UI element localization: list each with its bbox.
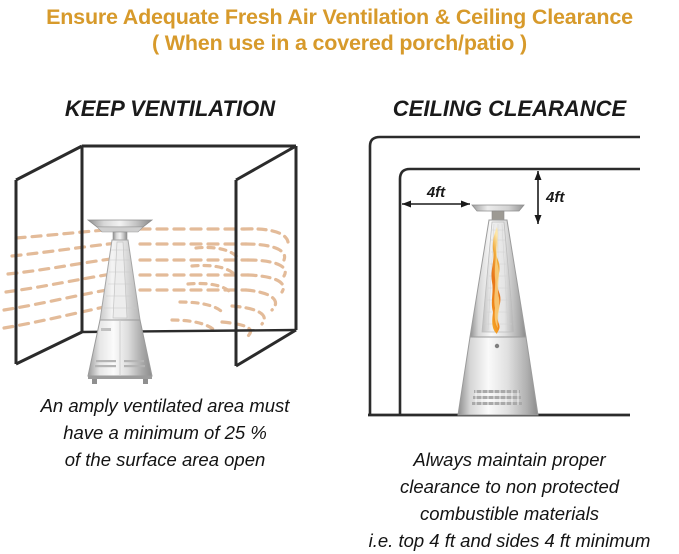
caption-right-line-1: Always maintain proper <box>340 446 679 473</box>
caption-right-line-4: i.e. top 4 ft and sides 4 ft minimum <box>340 527 679 554</box>
caption-left-line-2: have a minimum of 25 % <box>0 419 330 446</box>
infographic-page: Ensure Adequate Fresh Air Ventilation & … <box>0 0 679 548</box>
section-heading-keep-ventilation: KEEP VENTILATION <box>0 96 340 122</box>
side-clearance-label: 4ft <box>426 184 446 201</box>
caption-right-line-3: combustible materials <box>340 500 679 527</box>
page-title: Ensure Adequate Fresh Air Ventilation & … <box>0 4 679 57</box>
caption-left-line-1: An amply ventilated area must <box>0 392 330 419</box>
airflow-arrows <box>4 229 288 336</box>
caption-right-line-2: clearance to non protected <box>340 473 679 500</box>
vent-holes <box>472 390 522 405</box>
title-line-2: ( When use in a covered porch/patio ) <box>0 30 679 57</box>
title-line-1: Ensure Adequate Fresh Air Ventilation & … <box>0 4 679 30</box>
top-clearance-dimension: 4ft <box>535 171 566 224</box>
side-clearance-dimension: 4ft <box>402 184 470 208</box>
patio-heater-right <box>458 205 538 415</box>
clearance-caption: Always maintain proper clearance to non … <box>340 446 679 554</box>
ventilation-caption: An amply ventilated area must have a min… <box>0 392 330 473</box>
top-clearance-label: 4ft <box>545 189 565 206</box>
ventilation-diagram <box>0 132 345 392</box>
room-box-wireframe <box>16 146 296 366</box>
ceiling-clearance-diagram: 4ft 4ft <box>340 132 679 442</box>
section-heading-ceiling-clearance: CEILING CLEARANCE <box>340 96 679 122</box>
caption-left-line-3: of the surface area open <box>0 446 330 473</box>
